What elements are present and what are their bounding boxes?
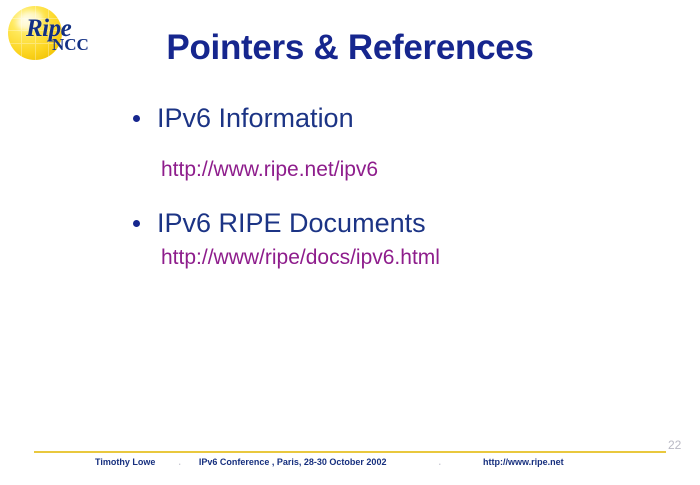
list-item: IPv6 Information	[128, 101, 668, 135]
bullet-dot-icon	[133, 115, 140, 122]
bullet-dot-icon	[133, 220, 140, 227]
slide-title: Pointers & References	[0, 28, 700, 68]
footer-separator: .	[178, 457, 181, 467]
footer-url: http://www.ripe.net	[483, 457, 564, 467]
footer-event: IPv6 Conference , Paris, 28-30 October 2…	[199, 457, 387, 467]
slide-canvas: Ripe NCC Pointers & References IPv6 Info…	[0, 0, 700, 485]
footer-divider	[34, 451, 666, 453]
link-ipv6-ripe-documents[interactable]: http://www/ripe/docs/ipv6.html	[161, 245, 668, 271]
footer-separator: .	[438, 457, 441, 467]
slide-body: IPv6 Information http://www.ripe.net/ipv…	[128, 101, 668, 271]
list-item-label: IPv6 Information	[157, 101, 668, 135]
list-item-label: IPv6 RIPE Documents	[157, 206, 668, 240]
link-ipv6-information[interactable]: http://www.ripe.net/ipv6	[161, 157, 668, 183]
page-number: 22	[668, 438, 696, 452]
footer-author: Timothy Lowe	[95, 457, 155, 467]
list-item: IPv6 RIPE Documents	[128, 206, 668, 240]
footer: Timothy Lowe . IPv6 Conference , Paris, …	[95, 457, 640, 467]
